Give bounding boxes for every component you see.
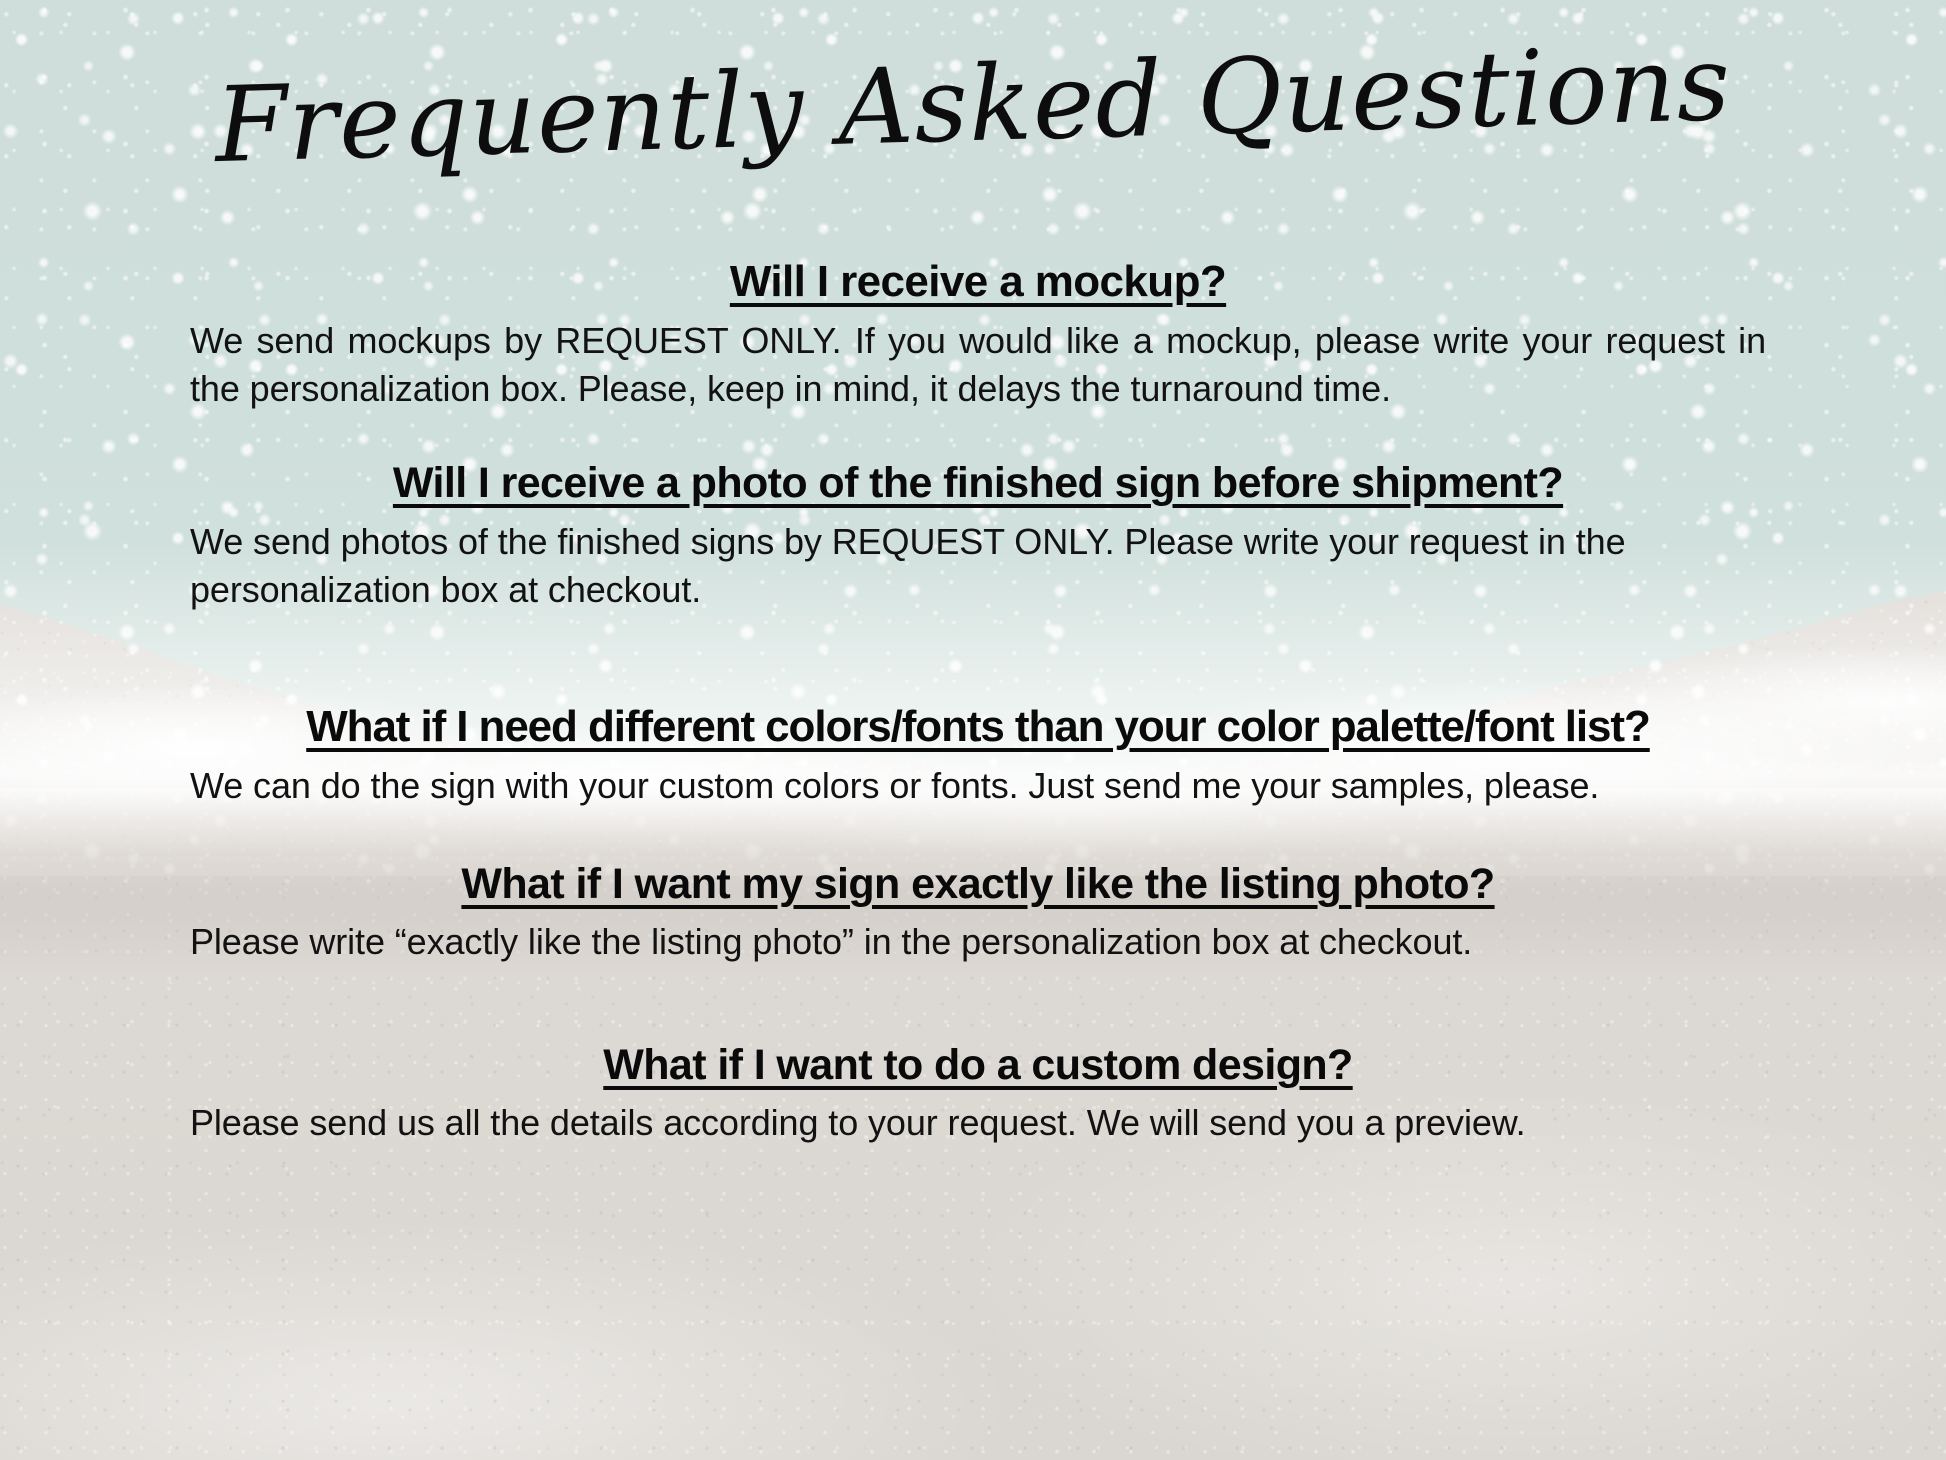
faq-answer: Please write “exactly like the listing p…	[190, 918, 1766, 966]
faq-question: What if I want to do a custom design?	[190, 1039, 1766, 1091]
faq-question: What if I want my sign exactly like the …	[190, 858, 1766, 910]
faq-answer: We send photos of the finished signs by …	[190, 518, 1766, 614]
faq-answer: Please send us all the details according…	[190, 1099, 1766, 1147]
faq-content: Frequently Asked Questions Will I receiv…	[0, 0, 1946, 1460]
faq-question: Will I receive a photo of the finished s…	[190, 457, 1766, 509]
faq-answer: We can do the sign with your custom colo…	[190, 762, 1766, 810]
faq-item: What if I want to do a custom design? Pl…	[190, 1039, 1766, 1148]
faq-list: Will I receive a mockup? We send mockups…	[190, 255, 1766, 1147]
faq-item: What if I want my sign exactly like the …	[190, 858, 1766, 967]
faq-question: Will I receive a mockup?	[190, 255, 1766, 309]
faq-item: Will I receive a mockup? We send mockups…	[190, 255, 1766, 413]
page-title: Frequently Asked Questions	[0, 19, 1946, 190]
faq-item: Will I receive a photo of the finished s…	[190, 457, 1766, 614]
faq-question: What if I need different colors/fonts th…	[190, 700, 1766, 754]
faq-answer: We send mockups by REQUEST ONLY. If you …	[190, 317, 1766, 413]
faq-item: What if I need different colors/fonts th…	[190, 700, 1766, 810]
faq-page: Frequently Asked Questions Will I receiv…	[0, 0, 1946, 1460]
